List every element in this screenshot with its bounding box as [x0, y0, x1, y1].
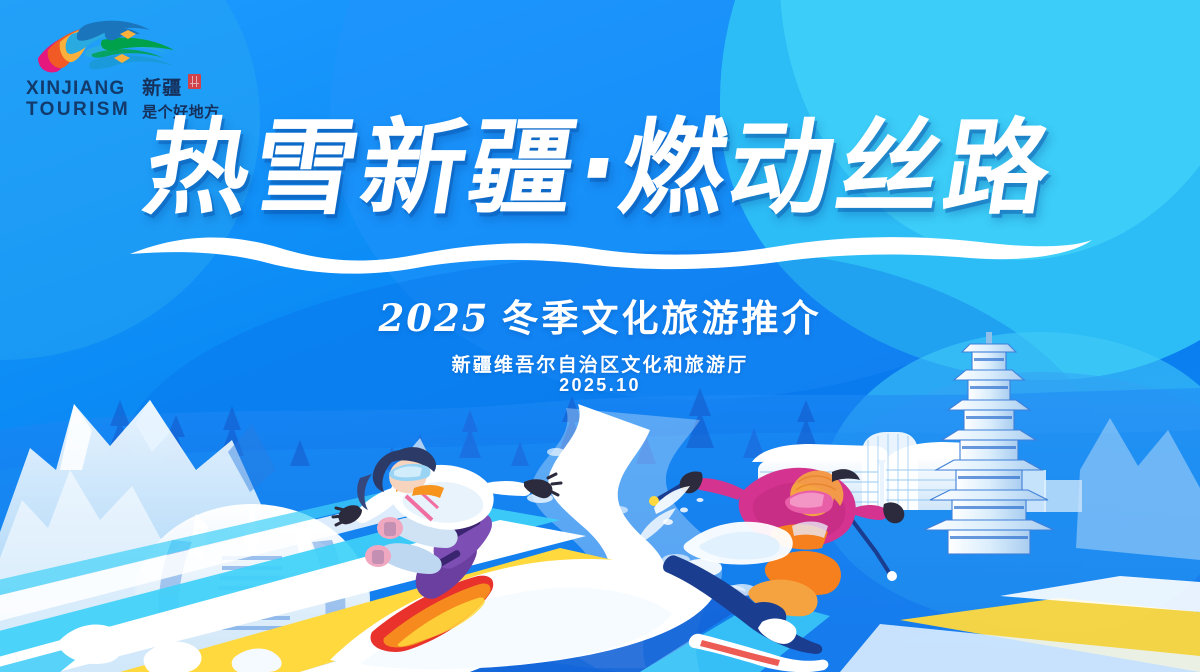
logo-english-line1: XINJIANG	[26, 78, 130, 99]
organizer-name: 新疆维吾尔自治区文化和旅游厅	[0, 350, 1200, 377]
subtitle-text: 冬季文化旅游推介	[501, 297, 821, 340]
logo-block: XINJIANG TOURISM 新疆 是个好地方	[24, 14, 234, 122]
organizer-date: 2025.10	[0, 375, 1200, 396]
subtitle-year: 2025	[379, 296, 490, 340]
subtitle: 2025冬季文化旅游推介	[0, 288, 1200, 342]
logo-english: XINJIANG TOURISM	[26, 78, 130, 121]
red-seal-stamp-icon	[188, 74, 201, 89]
poster-root: XINJIANG TOURISM 新疆 是个好地方 热雪新疆·燃动丝路 2025…	[0, 0, 1200, 672]
headline-swoosh-icon	[120, 196, 1100, 276]
xinjiang-tourism-logo-icon	[32, 14, 182, 76]
logo-chinese-line1: 新疆	[142, 78, 220, 101]
